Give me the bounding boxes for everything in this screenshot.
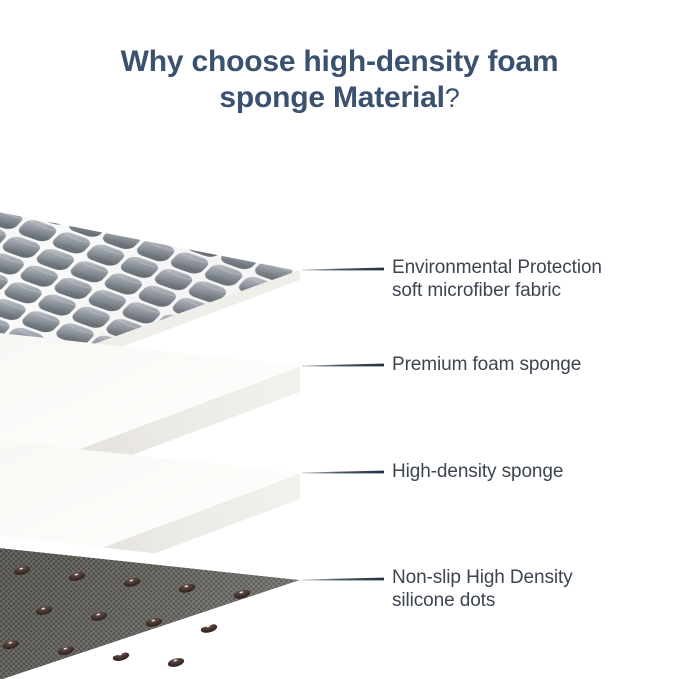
leader-lines xyxy=(302,268,384,581)
callout-label-microfiber: Environmental Protection soft microfiber… xyxy=(392,256,602,302)
callout-label-high-density: High-density sponge xyxy=(392,460,563,483)
leader-line-3 xyxy=(302,471,384,474)
callout-label-premium-foam: Premium foam sponge xyxy=(392,353,581,376)
leader-line-1 xyxy=(302,268,384,271)
leader-line-2 xyxy=(302,364,384,367)
callout-label-silicone-dots: Non-slip High Density silicone dots xyxy=(392,566,573,612)
exploded-layer-diagram xyxy=(0,0,679,679)
product-infographic: Why choose high-density foam sponge Mate… xyxy=(0,0,679,679)
